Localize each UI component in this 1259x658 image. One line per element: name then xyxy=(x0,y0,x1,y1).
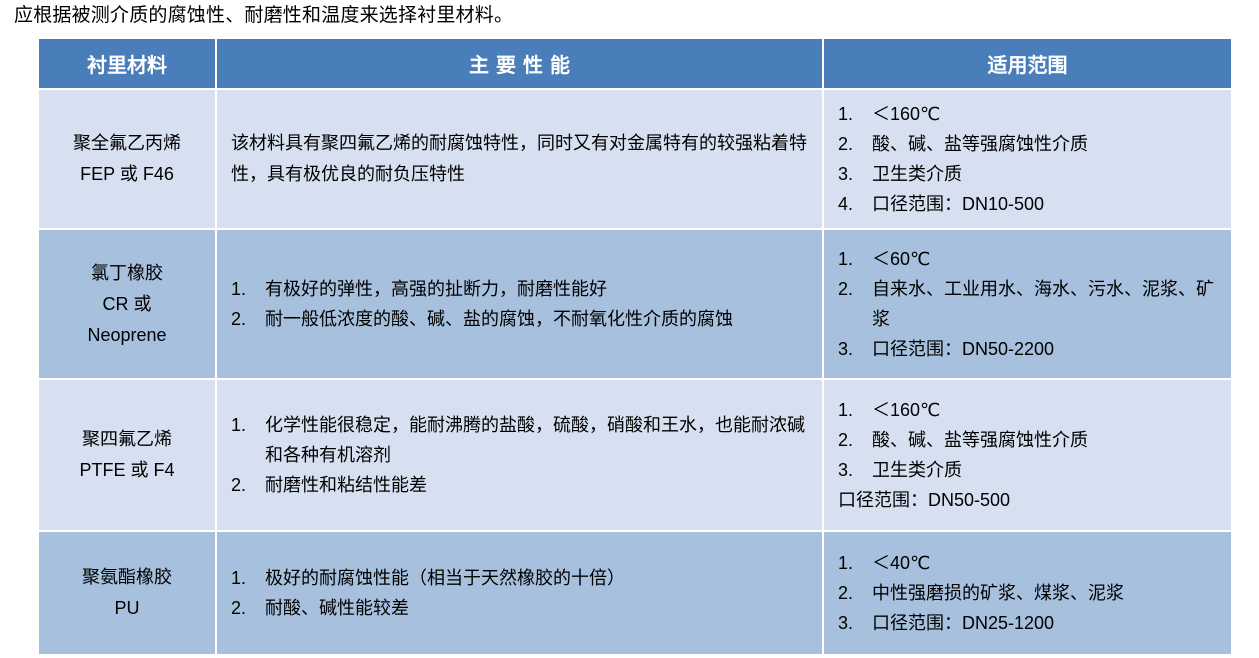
range-plain-line: 口径范围：DN50-500 xyxy=(838,485,1225,515)
material-name-line: PTFE 或 F4 xyxy=(43,455,211,486)
list-item-text: 耐一般低浓度的酸、碱、盐的腐蚀，不耐氧化性介质的腐蚀 xyxy=(265,304,816,334)
list-item: 1.＜40℃ xyxy=(838,548,1225,578)
intro-text: 应根据被测介质的腐蚀性、耐磨性和温度来选择衬里材料。 xyxy=(14,2,513,30)
lining-material-table: 衬里材料 主要性能 适用范围 聚全氟乙丙烯FEP 或 F46该材料具有聚四氟乙烯… xyxy=(37,37,1233,656)
list-item: 3.卫生类介质 xyxy=(838,455,1225,485)
list-item: 2.酸、碱、盐等强腐蚀性介质 xyxy=(838,425,1225,455)
list-item-number: 3. xyxy=(838,455,864,485)
cell-material: 氯丁橡胶CR 或Neoprene xyxy=(39,230,215,378)
list-item: 3.口径范围：DN50-2200 xyxy=(838,334,1225,364)
list-item-number: 4. xyxy=(838,189,864,219)
list-item-text: 酸、碱、盐等强腐蚀性介质 xyxy=(872,129,1225,159)
cell-material: 聚氨酯橡胶PU xyxy=(39,532,215,654)
list-item-number: 2. xyxy=(838,274,864,304)
list-item-text: 自来水、工业用水、海水、污水、泥浆、矿浆 xyxy=(872,274,1225,334)
cell-material: 聚四氟乙烯PTFE 或 F4 xyxy=(39,380,215,530)
list-item-number: 2. xyxy=(231,470,257,500)
material-name-line: PU xyxy=(43,593,211,624)
list-item-text: 极好的耐腐蚀性能（相当于天然橡胶的十倍） xyxy=(265,563,816,593)
list-item-text: 耐磨性和粘结性能差 xyxy=(265,470,816,500)
list-item-number: 3. xyxy=(838,334,864,364)
list-item-text: 卫生类介质 xyxy=(872,455,1225,485)
list-item: 2.酸、碱、盐等强腐蚀性介质 xyxy=(838,129,1225,159)
list-item-text: 化学性能很稳定，能耐沸腾的盐酸，硫酸，硝酸和王水，也能耐浓碱和各种有机溶剂 xyxy=(265,410,816,470)
list-item: 1.化学性能很稳定，能耐沸腾的盐酸，硫酸，硝酸和王水，也能耐浓碱和各种有机溶剂 xyxy=(231,410,816,470)
cell-material: 聚全氟乙丙烯FEP 或 F46 xyxy=(39,90,215,228)
list-item-number: 1. xyxy=(231,274,257,304)
list-item: 1.有极好的弹性，高强的扯断力，耐磨性能好 xyxy=(231,274,816,304)
performance-list: 1.化学性能很稳定，能耐沸腾的盐酸，硫酸，硝酸和王水，也能耐浓碱和各种有机溶剂2… xyxy=(231,410,816,500)
list-item: 4.口径范围：DN10-500 xyxy=(838,189,1225,219)
list-item-number: 1. xyxy=(838,395,864,425)
list-item-text: ＜40℃ xyxy=(872,548,1225,578)
material-name-line: 氯丁橡胶 xyxy=(43,258,211,289)
cell-performance: 1.化学性能很稳定，能耐沸腾的盐酸，硫酸，硝酸和王水，也能耐浓碱和各种有机溶剂2… xyxy=(217,380,822,530)
material-name-line: CR 或 xyxy=(43,289,211,320)
list-item: 3.口径范围：DN25-1200 xyxy=(838,608,1225,638)
table-header: 衬里材料 主要性能 适用范围 xyxy=(39,39,1231,88)
list-item: 2.自来水、工业用水、海水、污水、泥浆、矿浆 xyxy=(838,274,1225,334)
table-row: 聚全氟乙丙烯FEP 或 F46该材料具有聚四氟乙烯的耐腐蚀特性，同时又有对金属特… xyxy=(39,90,1231,228)
cell-range: 1.＜40℃2.中性强磨损的矿浆、煤浆、泥浆3.口径范围：DN25-1200 xyxy=(824,532,1231,654)
list-item: 3.卫生类介质 xyxy=(838,159,1225,189)
list-item-number: 1. xyxy=(838,99,864,129)
table-row: 氯丁橡胶CR 或Neoprene1.有极好的弹性，高强的扯断力，耐磨性能好2.耐… xyxy=(39,230,1231,378)
column-header-performance: 主要性能 xyxy=(217,39,822,88)
range-list: 1.＜60℃2.自来水、工业用水、海水、污水、泥浆、矿浆3.口径范围：DN50-… xyxy=(838,244,1225,364)
list-item: 1.极好的耐腐蚀性能（相当于天然橡胶的十倍） xyxy=(231,563,816,593)
list-item-number: 1. xyxy=(231,410,257,440)
range-list: 1.＜40℃2.中性强磨损的矿浆、煤浆、泥浆3.口径范围：DN25-1200 xyxy=(838,548,1225,638)
list-item-text: 有极好的弹性，高强的扯断力，耐磨性能好 xyxy=(265,274,816,304)
list-item-text: ＜60℃ xyxy=(872,244,1225,274)
list-item: 2.中性强磨损的矿浆、煤浆、泥浆 xyxy=(838,578,1225,608)
material-name-line: FEP 或 F46 xyxy=(43,159,211,190)
list-item-number: 2. xyxy=(231,593,257,623)
list-item-text: 口径范围：DN10-500 xyxy=(872,189,1225,219)
performance-paragraph: 该材料具有聚四氟乙烯的耐腐蚀特性，同时又有对金属特有的较强粘着特性，具有极优良的… xyxy=(231,128,816,190)
table-body: 聚全氟乙丙烯FEP 或 F46该材料具有聚四氟乙烯的耐腐蚀特性，同时又有对金属特… xyxy=(39,90,1231,654)
cell-performance: 该材料具有聚四氟乙烯的耐腐蚀特性，同时又有对金属特有的较强粘着特性，具有极优良的… xyxy=(217,90,822,228)
list-item: 1.＜60℃ xyxy=(838,244,1225,274)
range-list: 1.＜160℃2.酸、碱、盐等强腐蚀性介质3.卫生类介质 xyxy=(838,395,1225,485)
material-name-line: 聚氨酯橡胶 xyxy=(43,562,211,593)
range-list: 1.＜160℃2.酸、碱、盐等强腐蚀性介质3.卫生类介质4.口径范围：DN10-… xyxy=(838,99,1225,219)
cell-range: 1.＜60℃2.自来水、工业用水、海水、污水、泥浆、矿浆3.口径范围：DN50-… xyxy=(824,230,1231,378)
list-item-text: 耐酸、碱性能较差 xyxy=(265,593,816,623)
material-name-line: 聚四氟乙烯 xyxy=(43,424,211,455)
list-item: 2.耐一般低浓度的酸、碱、盐的腐蚀，不耐氧化性介质的腐蚀 xyxy=(231,304,816,334)
document-page: 应根据被测介质的腐蚀性、耐磨性和温度来选择衬里材料。 衬里材料 主要性能 适用范… xyxy=(0,0,1259,658)
material-name-line: 聚全氟乙丙烯 xyxy=(43,128,211,159)
list-item-text: 口径范围：DN50-2200 xyxy=(872,334,1225,364)
table-row: 聚四氟乙烯PTFE 或 F41.化学性能很稳定，能耐沸腾的盐酸，硫酸，硝酸和王水… xyxy=(39,380,1231,530)
list-item: 2.耐磨性和粘结性能差 xyxy=(231,470,816,500)
column-header-range: 适用范围 xyxy=(824,39,1231,88)
list-item: 2.耐酸、碱性能较差 xyxy=(231,593,816,623)
list-item-text: 口径范围：DN25-1200 xyxy=(872,608,1225,638)
list-item-number: 2. xyxy=(838,578,864,608)
list-item-text: 酸、碱、盐等强腐蚀性介质 xyxy=(872,425,1225,455)
list-item-text: ＜160℃ xyxy=(872,99,1225,129)
list-item-number: 2. xyxy=(838,425,864,455)
performance-list: 1.极好的耐腐蚀性能（相当于天然橡胶的十倍）2.耐酸、碱性能较差 xyxy=(231,563,816,623)
list-item: 1.＜160℃ xyxy=(838,395,1225,425)
list-item-text: ＜160℃ xyxy=(872,395,1225,425)
performance-list: 1.有极好的弹性，高强的扯断力，耐磨性能好2.耐一般低浓度的酸、碱、盐的腐蚀，不… xyxy=(231,274,816,334)
cell-range: 1.＜160℃2.酸、碱、盐等强腐蚀性介质3.卫生类介质口径范围：DN50-50… xyxy=(824,380,1231,530)
list-item-number: 2. xyxy=(231,304,257,334)
list-item-number: 1. xyxy=(838,244,864,274)
list-item-number: 1. xyxy=(231,563,257,593)
material-name-line: Neoprene xyxy=(43,320,211,351)
list-item-number: 3. xyxy=(838,608,864,638)
list-item-text: 中性强磨损的矿浆、煤浆、泥浆 xyxy=(872,578,1225,608)
cell-range: 1.＜160℃2.酸、碱、盐等强腐蚀性介质3.卫生类介质4.口径范围：DN10-… xyxy=(824,90,1231,228)
cell-performance: 1.极好的耐腐蚀性能（相当于天然橡胶的十倍）2.耐酸、碱性能较差 xyxy=(217,532,822,654)
cell-performance: 1.有极好的弹性，高强的扯断力，耐磨性能好2.耐一般低浓度的酸、碱、盐的腐蚀，不… xyxy=(217,230,822,378)
list-item-number: 2. xyxy=(838,129,864,159)
table-row: 聚氨酯橡胶PU1.极好的耐腐蚀性能（相当于天然橡胶的十倍）2.耐酸、碱性能较差1… xyxy=(39,532,1231,654)
list-item-number: 1. xyxy=(838,548,864,578)
list-item-number: 3. xyxy=(838,159,864,189)
table-header-row: 衬里材料 主要性能 适用范围 xyxy=(39,39,1231,88)
list-item: 1.＜160℃ xyxy=(838,99,1225,129)
column-header-material: 衬里材料 xyxy=(39,39,215,88)
list-item-text: 卫生类介质 xyxy=(872,159,1225,189)
